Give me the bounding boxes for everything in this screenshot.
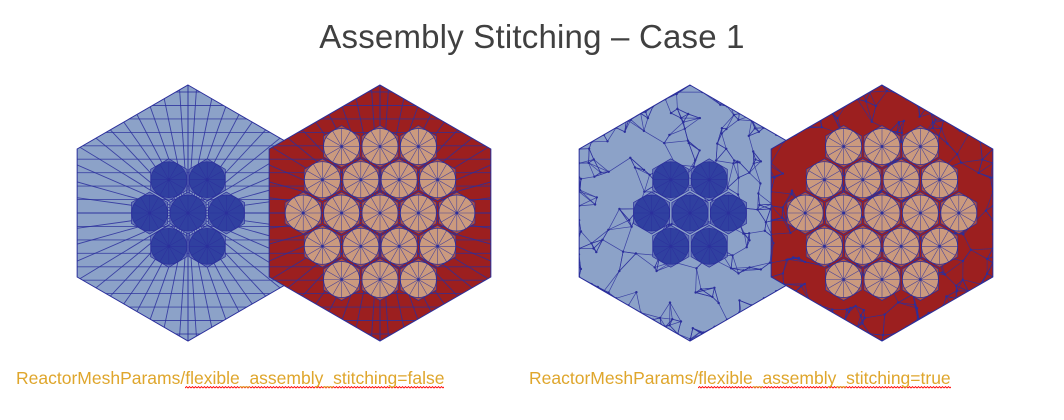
mesh-diagram-unstructured <box>560 80 1030 350</box>
caption-right: ReactorMeshParams/flexible_assembly_stit… <box>529 368 951 389</box>
caption-left-prefix: ReactorMeshParams/ <box>16 368 185 388</box>
page-title: Assembly Stitching – Case 1 <box>0 18 1064 56</box>
slide-canvas: Assembly Stitching – Case 1 ReactorMeshP… <box>0 0 1064 420</box>
caption-left: ReactorMeshParams/flexible_assembly_stit… <box>16 368 444 389</box>
caption-left-misspelled: flexible_assembly_stitching=false <box>185 368 444 389</box>
caption-right-misspelled: flexible_assembly_stitching=true <box>698 368 950 389</box>
figure-structured-stitching <box>58 80 528 350</box>
figure-flexible-stitching <box>560 80 1030 350</box>
caption-right-prefix: ReactorMeshParams/ <box>529 368 698 388</box>
mesh-diagram-structured <box>58 80 528 350</box>
